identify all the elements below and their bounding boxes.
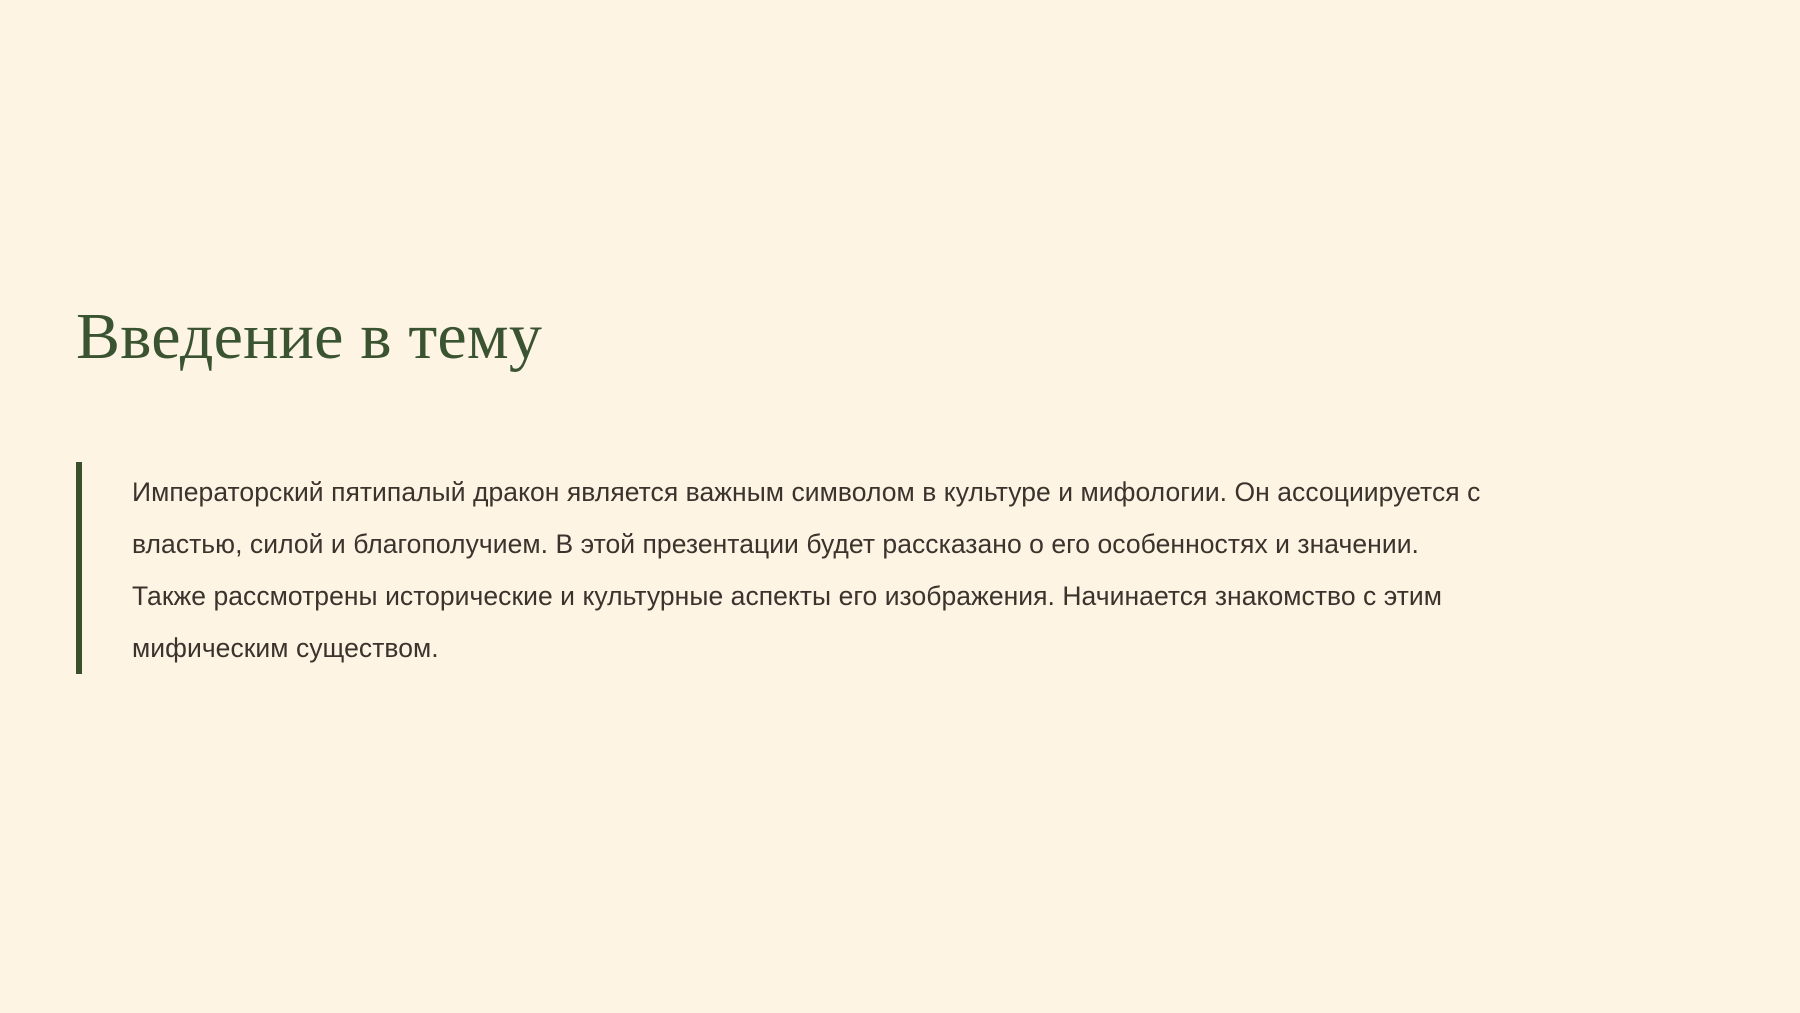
body-text-container: Императорский пятипалый дракон является … xyxy=(82,462,1736,674)
body-callout-block: Императорский пятипалый дракон является … xyxy=(76,462,1736,674)
body-paragraph: Императорский пятипалый дракон является … xyxy=(132,466,1494,674)
presentation-slide: Введение в тему Императорский пятипалый … xyxy=(0,0,1800,1013)
page-title: Введение в тему xyxy=(76,299,542,375)
